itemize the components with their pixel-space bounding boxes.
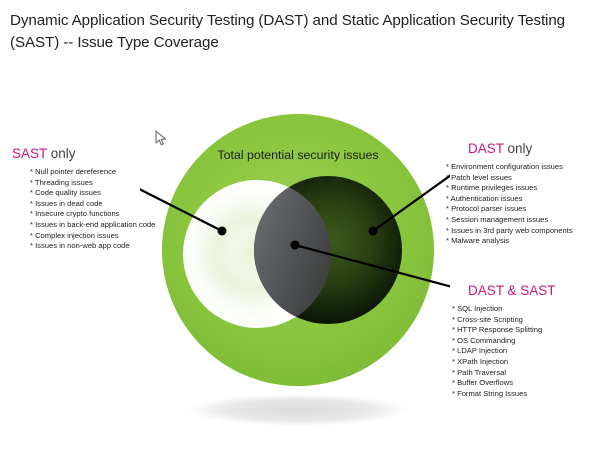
callout-sast-only-heading-rest: only — [47, 146, 76, 161]
list-item: * Protocol parser issues — [446, 204, 573, 215]
callout-sast-only-heading-highlight: SAST — [12, 146, 47, 161]
list-item: * Session management issues — [446, 215, 573, 226]
callout-dast-only-heading: DAST only — [468, 141, 573, 157]
venn-diagram: Total potential security issues — [140, 95, 450, 425]
venn-center-label: Total potential security issues — [217, 148, 378, 162]
list-item: * Runtime privileges issues — [446, 183, 573, 194]
leader-dot-dast — [370, 228, 377, 235]
diagram-canvas: Dynamic Application Security Testing (DA… — [0, 0, 600, 450]
list-item: * Threading issues — [30, 178, 155, 189]
page-title: Dynamic Application Security Testing (DA… — [10, 10, 588, 54]
leader-dot-both — [292, 242, 299, 249]
mouse-pointer-icon — [155, 130, 169, 148]
list-item: * Patch level issues — [446, 173, 573, 184]
list-item: * Null pointer dereference — [30, 167, 155, 178]
list-item: * Issues in 3rd party web components — [446, 226, 573, 237]
sast-only-list: * Null pointer dereference * Threading i… — [30, 167, 155, 252]
dast-only-list: * Environment configuration issues * Pat… — [446, 162, 573, 247]
list-item: * Cross-site Scripting — [452, 315, 556, 326]
list-item: * Insecure crypto functions — [30, 209, 155, 220]
list-item: * Issues in non-web app code — [30, 241, 155, 252]
callout-dast-only-heading-highlight: DAST — [468, 141, 504, 156]
callout-dast-only: DAST only * Environment configuration is… — [468, 141, 573, 247]
callout-dast-only-heading-rest: only — [504, 141, 533, 156]
callout-sast-only-heading: SAST only — [12, 146, 155, 162]
drop-shadow — [188, 394, 408, 425]
callout-dast-and-sast: DAST & SAST * SQL Injection * Cross-site… — [468, 283, 556, 399]
list-item: * HTTP Response Splitting — [452, 325, 556, 336]
list-item: * SQL Injection — [452, 304, 556, 315]
list-item: * Authentication issues — [446, 194, 573, 205]
list-item: * Path Traversal — [452, 368, 556, 379]
list-item: * Code quality issues — [30, 188, 155, 199]
list-item: * Format String Issues — [452, 389, 556, 400]
list-item: * Complex injection issues — [30, 231, 155, 242]
list-item: * Environment configuration issues — [446, 162, 573, 173]
list-item: * XPath Injection — [452, 357, 556, 368]
list-item: * LDAP Injection — [452, 346, 556, 357]
dast-and-sast-list: * SQL Injection * Cross-site Scripting *… — [452, 304, 556, 399]
callout-sast-only: SAST only * Null pointer dereference * T… — [12, 146, 155, 252]
list-item: * Buffer Overflows — [452, 378, 556, 389]
leader-dot-sast — [219, 228, 226, 235]
callout-dast-and-sast-heading: DAST & SAST — [468, 283, 556, 299]
callout-dast-and-sast-heading-highlight: DAST & SAST — [468, 283, 556, 298]
list-item: * Issues in dead code — [30, 199, 155, 210]
list-item: * OS Commanding — [452, 336, 556, 347]
list-item: * Malware analysis — [446, 236, 573, 247]
list-item: * Issues in back-end application code — [30, 220, 155, 231]
